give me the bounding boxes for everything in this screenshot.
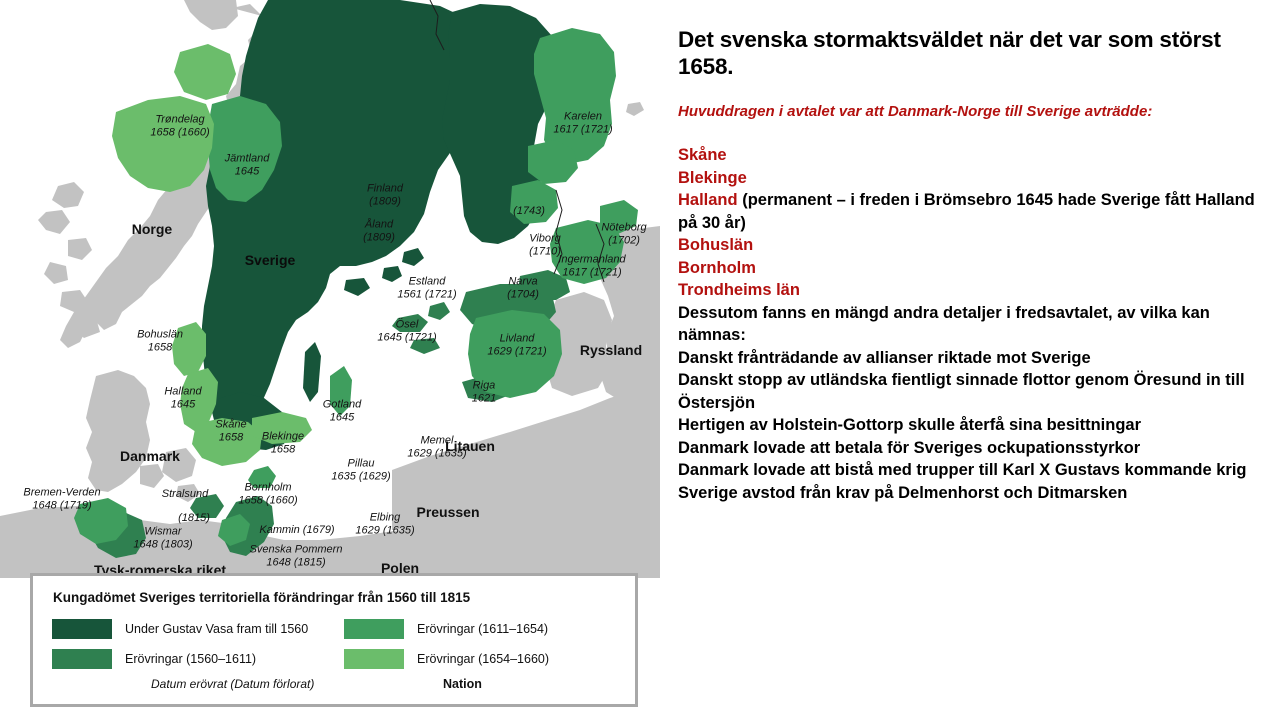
legend-color-swatch	[51, 618, 113, 640]
ceded-territories-list: SkåneBlekingeHalland (permanent – i fred…	[678, 144, 1262, 302]
ceded-territory-name: Bohuslän	[678, 236, 753, 254]
legend-item: Erövringar (1654–1660)	[343, 648, 549, 670]
lead-sentence: Huvuddragen i avtalet var att Danmark-No…	[678, 102, 1262, 122]
treaty-detail-line: Danmark lovade att betala för Sveriges o…	[678, 437, 1262, 460]
slide-title: Det svenska stormaktsväldet när det var …	[678, 26, 1262, 80]
legend-item: Erövringar (1611–1654)	[343, 618, 548, 640]
treaty-detail-line: Dessutom fanns en mängd andra detaljer i…	[678, 302, 1262, 347]
treaty-detail-line: Sverige avstod från krav på Delmenhorst …	[678, 482, 1262, 505]
legend-note-nation: Nation	[443, 677, 482, 691]
ceded-territory-line: Skåne	[678, 144, 1262, 167]
ceded-territory-name: Blekinge	[678, 169, 747, 187]
legend-item-label: Under Gustav Vasa fram till 1560	[125, 622, 308, 636]
legend-color-swatch	[343, 648, 405, 670]
treaty-details-list: Dessutom fanns en mängd andra detaljer i…	[678, 302, 1262, 505]
legend-title: Kungadömet Sveriges territoriella föränd…	[53, 590, 470, 605]
ceded-territory-line: Trondheims län	[678, 279, 1262, 302]
ceded-territory-line: Bohuslän	[678, 234, 1262, 257]
ceded-territory-note: (permanent – i freden i Brömsebro 1645 h…	[678, 191, 1255, 232]
ceded-territory-line: Bornholm	[678, 257, 1262, 280]
map-legend: Kungadömet Sveriges territoriella föränd…	[30, 573, 638, 707]
legend-item: Erövringar (1560–1611)	[51, 648, 256, 670]
legend-item-label: Erövringar (1611–1654)	[417, 622, 548, 636]
treaty-detail-line: Danskt frånträdande av allianser riktade…	[678, 347, 1262, 370]
legend-item-label: Erövringar (1560–1611)	[125, 652, 256, 666]
ceded-territory-name: Trondheims län	[678, 281, 800, 299]
legend-item-label: Erövringar (1654–1660)	[417, 652, 549, 666]
ceded-territory-name: Halland	[678, 191, 738, 209]
ceded-territory-line: Blekinge	[678, 167, 1262, 190]
legend-color-swatch	[343, 618, 405, 640]
legend-note-dates: Datum erövrat (Datum förlorat)	[151, 677, 314, 691]
ceded-territory-name: Skåne	[678, 146, 727, 164]
treaty-detail-line: Danmark lovade att bistå med trupper til…	[678, 459, 1262, 482]
map-panel: NorgeSverigeDanmarkRysslandLitauenPreuss…	[0, 0, 660, 720]
legend-color-swatch	[51, 648, 113, 670]
legend-item: Under Gustav Vasa fram till 1560	[51, 618, 308, 640]
scandinavia-map-image	[0, 0, 660, 578]
text-panel: Det svenska stormaktsväldet när det var …	[660, 0, 1280, 720]
treaty-detail-line: Hertigen av Holstein-Gottorp skulle åter…	[678, 414, 1262, 437]
ceded-territory-line: Halland (permanent – i freden i Brömsebr…	[678, 189, 1262, 234]
ceded-territory-name: Bornholm	[678, 259, 756, 277]
treaty-detail-line: Danskt stopp av utländska fientligt sinn…	[678, 369, 1262, 414]
slide-root: NorgeSverigeDanmarkRysslandLitauenPreuss…	[0, 0, 1280, 720]
